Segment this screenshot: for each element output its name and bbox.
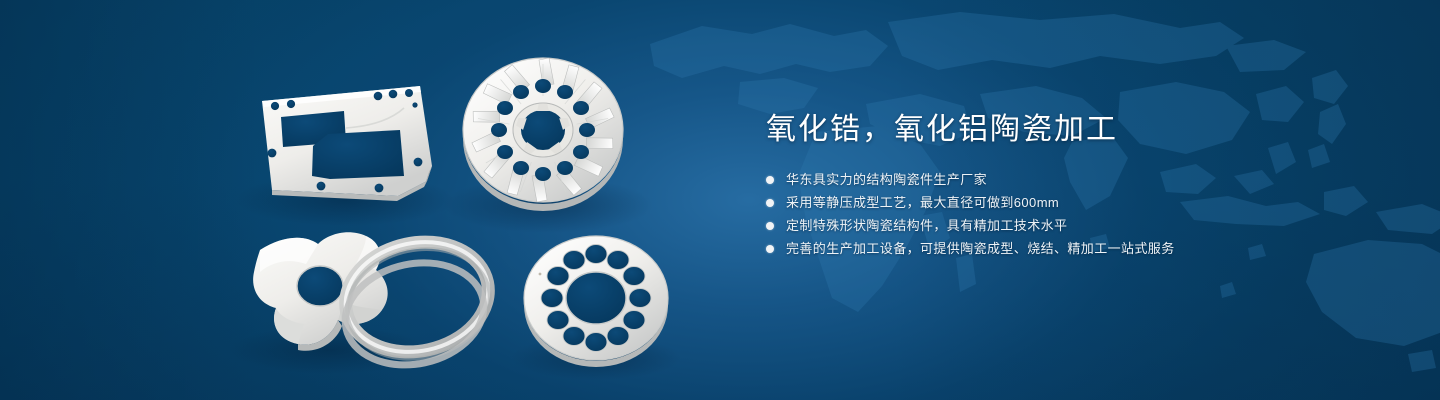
bullet-label: 完善的生产加工设备，可提供陶瓷成型、烧结、精加工一站式服务: [786, 237, 1175, 260]
banner-bullet-list: 华东具实力的结构陶瓷件生产厂家 采用等静压成型工艺，最大直径可做到600mm 定…: [766, 168, 1406, 260]
bullet-label: 采用等静压成型工艺，最大直径可做到600mm: [786, 191, 1059, 214]
ceramic-impeller-rotor: [463, 58, 623, 211]
bullet-label: 定制特殊形状陶瓷结构件，具有精加工技术水平: [786, 214, 1067, 237]
bullet-dot-icon: [766, 245, 774, 253]
bullet-dot-icon: [766, 222, 774, 230]
hero-banner: 氧化锆，氧化铝陶瓷加工 华东具实力的结构陶瓷件生产厂家 采用等静压成型工艺，最大…: [0, 0, 1440, 400]
banner-copy: 氧化锆，氧化铝陶瓷加工 华东具实力的结构陶瓷件生产厂家 采用等静压成型工艺，最大…: [766, 112, 1406, 260]
list-item: 华东具实力的结构陶瓷件生产厂家: [766, 168, 1406, 191]
list-item: 完善的生产加工设备，可提供陶瓷成型、烧结、精加工一站式服务: [766, 237, 1406, 260]
banner-headline: 氧化锆，氧化铝陶瓷加工: [766, 112, 1406, 148]
ceramic-machined-plate: [262, 86, 432, 201]
bullet-label: 华东具实力的结构陶瓷件生产厂家: [786, 168, 987, 191]
bullet-dot-icon: [766, 176, 774, 184]
list-item: 采用等静压成型工艺，最大直径可做到600mm: [766, 191, 1406, 214]
ceramic-valve-plate: [524, 236, 668, 367]
ceramic-products-image: [0, 0, 720, 400]
bullet-dot-icon: [766, 199, 774, 207]
list-item: 定制特殊形状陶瓷结构件，具有精加工技术水平: [766, 214, 1406, 237]
